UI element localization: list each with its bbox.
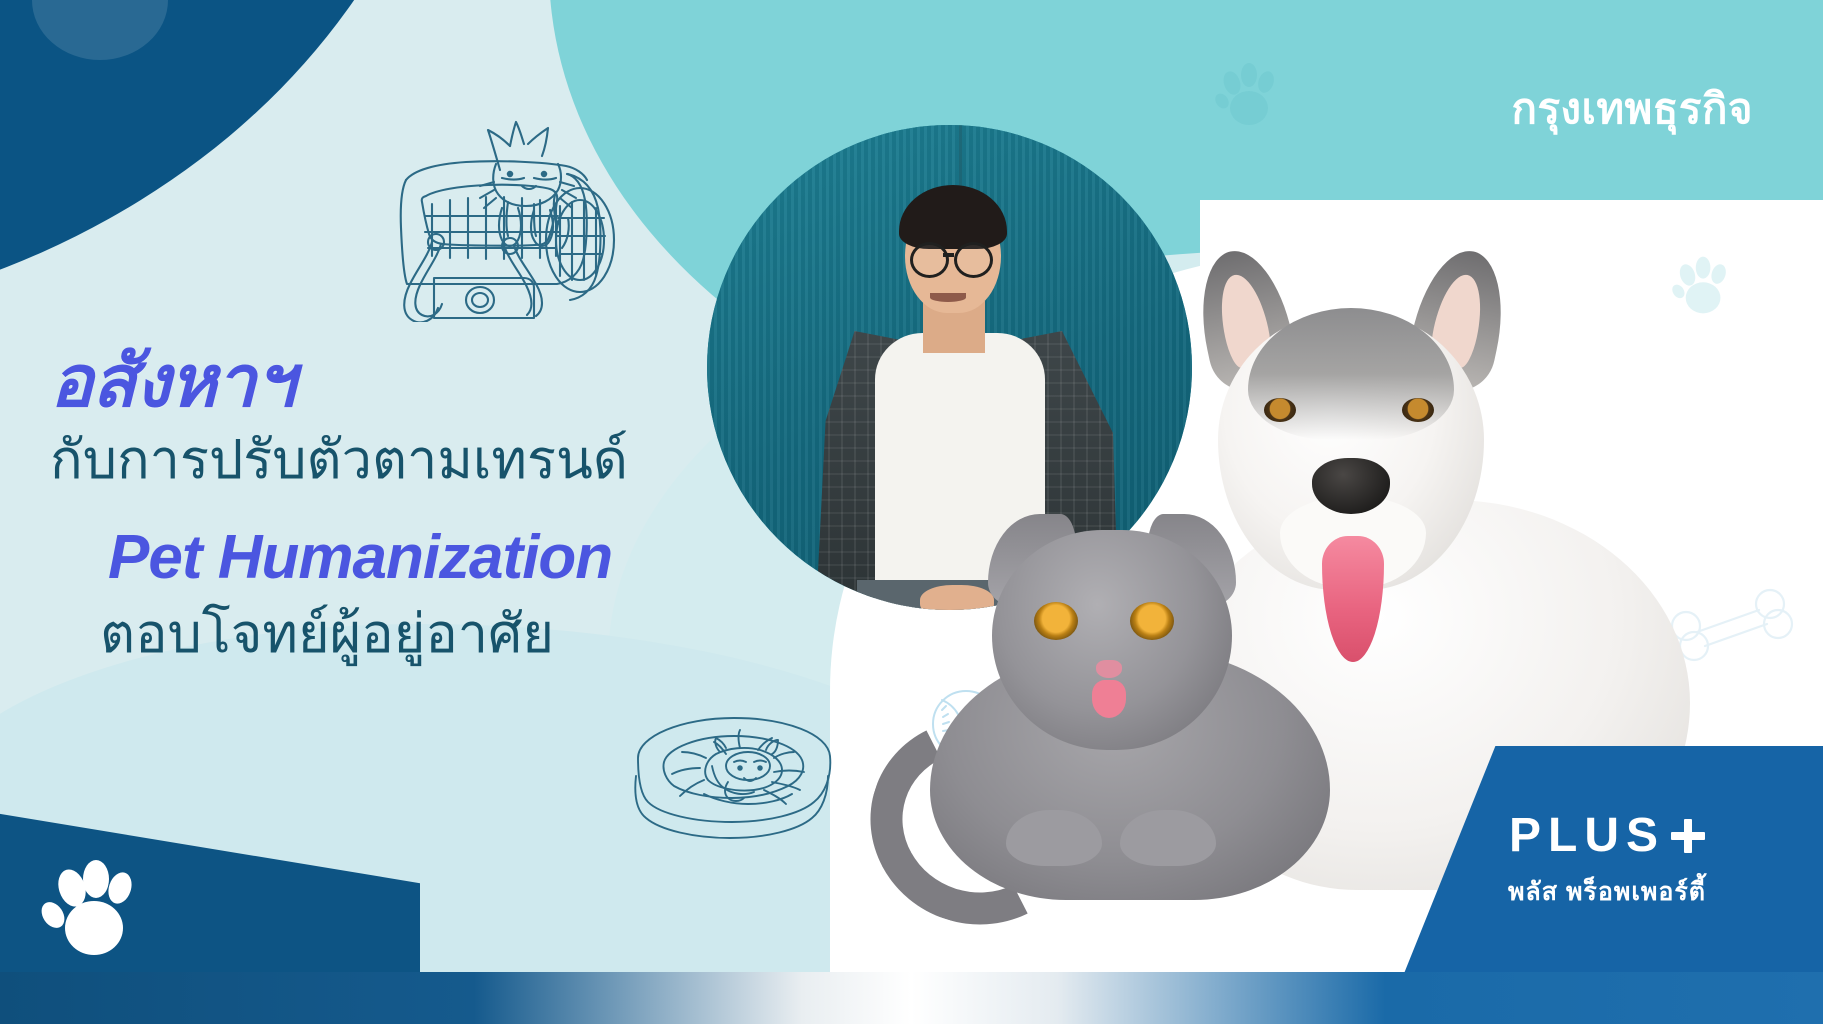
sponsor-logo: PLUS พลัส พร็อพเพอร์ตี้	[1457, 812, 1757, 912]
headline-line-2: กับการปรับตัวตามเทรนด์	[50, 425, 750, 495]
cat-paw-right	[1120, 810, 1216, 866]
sponsor-subtitle: พลัส พร็อพเพอร์ตี้	[1457, 872, 1757, 912]
sponsor-wordmark: PLUS	[1457, 812, 1757, 860]
publisher-logo: กรุงเทพธุรกิจ	[1512, 76, 1753, 142]
cat-paw-left	[1006, 810, 1102, 866]
sponsor-wordmark-text: PLUS	[1509, 812, 1665, 860]
pet-carrier-doodle-icon	[384, 52, 654, 322]
sleeping-cat-bed-doodle-icon	[608, 706, 848, 856]
headline-line-4: ตอบโจทย์ผู้อยู่อาศัย	[100, 599, 750, 669]
plus-symbol-icon	[1671, 819, 1705, 853]
faint-paw-print-icon	[1215, 58, 1285, 135]
headline-line-3: Pet Humanization	[108, 521, 750, 595]
bottom-gradient-strip	[0, 972, 1823, 1024]
dog-eye-right	[1402, 398, 1434, 422]
cat-tongue	[1092, 680, 1126, 718]
cat-nose	[1096, 660, 1122, 678]
headline-block: อสังหาฯ กับการปรับตัวตามเทรนด์ Pet Human…	[50, 345, 750, 669]
headline-line-1: อสังหาฯ	[50, 345, 750, 421]
cat-eye-right	[1130, 602, 1174, 640]
pet-humanization-banner: อสังหาฯ กับการปรับตัวตามเทรนด์ Pet Human…	[0, 0, 1823, 1024]
dog-eye-left	[1264, 398, 1296, 422]
paw-print-icon	[36, 852, 146, 960]
cat-eye-left	[1034, 602, 1078, 640]
